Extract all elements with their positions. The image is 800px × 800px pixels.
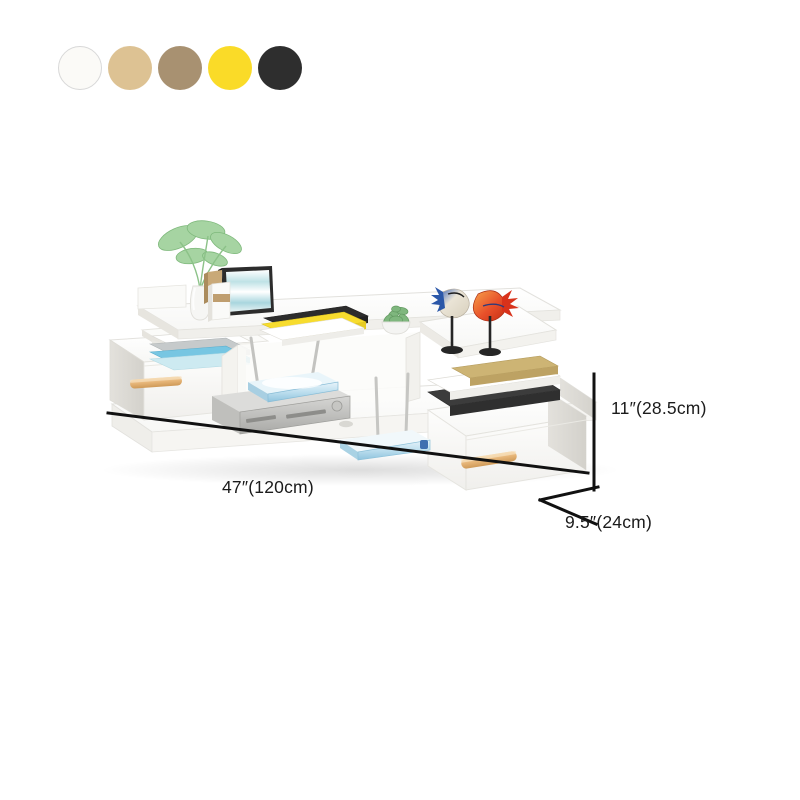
upper-panel-back-riser — [138, 285, 186, 309]
succulent-pot — [382, 322, 410, 334]
dimension-label-width: 47″(120cm) — [222, 477, 314, 498]
dimension-line-depth — [540, 487, 598, 500]
dimension-label-height: 11″(28.5cm) — [611, 398, 707, 419]
cable-port — [339, 421, 353, 427]
product-image-canvas: 47″(120cm) 11″(28.5cm) 9.5″(24cm) — [0, 0, 800, 800]
monstera-leaves — [155, 218, 245, 269]
dimension-label-depth: 9.5″(24cm) — [565, 512, 652, 533]
